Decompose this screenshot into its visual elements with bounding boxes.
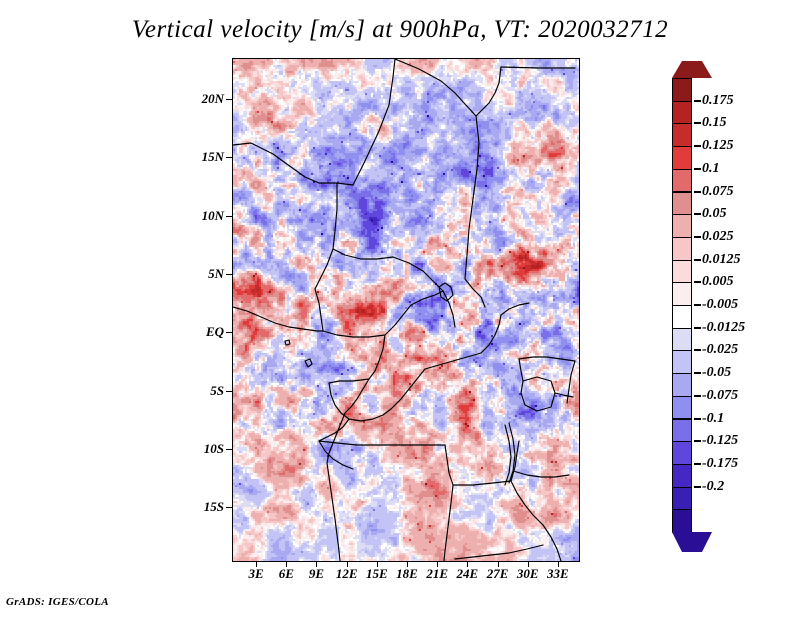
colorbar — [672, 78, 692, 532]
x-axis-tick-label: 21E — [426, 566, 448, 582]
colorbar-swatch — [672, 282, 692, 306]
colorbar-tick-mark — [694, 349, 701, 351]
colorbar-tick-mark — [694, 418, 701, 420]
x-axis-tick-label: 33E — [547, 566, 569, 582]
colorbar-tick-label: -0.075 — [702, 388, 738, 404]
x-axis-tick-mark — [316, 561, 317, 567]
colorbar-tick-label: 0.15 — [702, 115, 727, 131]
colorbar-tick-label: -0.125 — [702, 433, 738, 449]
colorbar-swatch — [672, 441, 692, 465]
colorbar-swatch — [672, 214, 692, 238]
x-axis-tick-label: 3E — [249, 566, 264, 582]
y-axis-tick-label: 5N — [208, 266, 224, 282]
colorbar-tick-mark — [694, 122, 701, 124]
x-axis-tick-mark — [437, 561, 438, 567]
x-axis-tick-label: 12E — [336, 566, 358, 582]
y-axis-tick-mark — [226, 274, 232, 275]
colorbar-swatch — [672, 328, 692, 352]
x-axis-tick-label: 30E — [517, 566, 539, 582]
colorbar-tick-label: -0.0125 — [702, 320, 745, 336]
x-axis-tick-label: 9E — [309, 566, 324, 582]
colorbar-swatch — [672, 260, 692, 284]
colorbar-tick-label: -0.175 — [702, 456, 738, 472]
colorbar-tick-mark — [694, 259, 701, 261]
colorbar-swatch — [672, 78, 692, 102]
colorbar-top-arrow — [672, 61, 712, 78]
colorbar-swatch — [672, 509, 692, 533]
colorbar-swatch — [672, 464, 692, 488]
colorbar-tick-mark — [694, 440, 701, 442]
colorbar-swatch — [672, 101, 692, 125]
colorbar-swatch — [672, 237, 692, 261]
x-axis-tick-mark — [377, 561, 378, 567]
y-axis-tick-label: 10S — [204, 441, 224, 457]
colorbar-bottom-arrow — [672, 532, 712, 552]
x-axis-tick-label: 24E — [457, 566, 479, 582]
colorbar-tick-label: 0.075 — [702, 184, 734, 200]
colorbar-swatch — [672, 396, 692, 420]
colorbar-tick-mark — [694, 395, 701, 397]
colorbar-tick-label: -0.05 — [702, 365, 731, 381]
country-borders-overlay — [233, 59, 579, 561]
colorbar-tick-label: -0.025 — [702, 342, 738, 358]
colorbar-tick-label: 0.025 — [702, 229, 734, 245]
y-axis-tick-label: 15S — [204, 499, 224, 515]
colorbar-tick-mark — [694, 327, 701, 329]
colorbar-tick-label: 0.175 — [702, 93, 734, 109]
y-axis-tick-mark — [226, 332, 232, 333]
y-axis-tick-label: 20N — [202, 91, 224, 107]
y-axis-tick-mark — [226, 449, 232, 450]
colorbar-tick-label: -0.2 — [702, 479, 724, 495]
x-axis-tick-mark — [498, 561, 499, 567]
colorbar-tick-label: 0.05 — [702, 206, 727, 222]
y-axis-tick-mark — [226, 157, 232, 158]
colorbar-swatch — [672, 169, 692, 193]
y-axis-tick-mark — [226, 391, 232, 392]
y-axis-tick-label: 10N — [202, 208, 224, 224]
colorbar-swatch — [672, 419, 692, 443]
colorbar-tick-label: 0.125 — [702, 138, 734, 154]
colorbar-tick-mark — [694, 100, 701, 102]
colorbar-tick-mark — [694, 463, 701, 465]
colorbar-tick-mark — [694, 191, 701, 193]
colorbar-swatch — [672, 487, 692, 511]
x-axis-tick-label: 27E — [487, 566, 509, 582]
colorbar-tick-mark — [694, 372, 701, 374]
colorbar-tick-mark — [694, 304, 701, 306]
y-axis-tick-label: EQ — [206, 324, 224, 340]
x-axis-tick-mark — [407, 561, 408, 567]
x-axis-tick-mark — [528, 561, 529, 567]
colorbar-swatch — [672, 123, 692, 147]
y-axis-tick-mark — [226, 216, 232, 217]
colorbar-tick-mark — [694, 213, 701, 215]
x-axis-tick-mark — [467, 561, 468, 567]
colorbar-tick-label: -0.005 — [702, 297, 738, 313]
colorbar-tick-mark — [694, 236, 701, 238]
map-plot-area — [232, 58, 580, 562]
x-axis-tick-mark — [558, 561, 559, 567]
colorbar-tick-mark — [694, 145, 701, 147]
grads-attribution: GrADS: IGES/COLA — [6, 596, 109, 608]
y-axis-tick-label: 5S — [210, 383, 224, 399]
page-title: Vertical velocity [m/s] at 900hPa, VT: 2… — [0, 16, 800, 44]
colorbar-swatch — [672, 146, 692, 170]
colorbar-tick-label: 0.0125 — [702, 252, 741, 268]
colorbar-tick-label: 0.1 — [702, 161, 720, 177]
colorbar-tick-mark — [694, 281, 701, 283]
y-axis-tick-mark — [226, 99, 232, 100]
colorbar-swatch — [672, 305, 692, 329]
colorbar-swatch — [672, 373, 692, 397]
x-axis-tick-label: 15E — [366, 566, 388, 582]
colorbar-tick-label: 0.005 — [702, 274, 734, 290]
colorbar-tick-label: -0.1 — [702, 411, 724, 427]
x-axis-tick-mark — [286, 561, 287, 567]
y-axis-tick-mark — [226, 507, 232, 508]
x-axis-tick-mark — [347, 561, 348, 567]
colorbar-swatch — [672, 192, 692, 216]
colorbar-tick-mark — [694, 168, 701, 170]
colorbar-swatch — [672, 350, 692, 374]
x-axis-tick-label: 6E — [279, 566, 294, 582]
x-axis-tick-label: 18E — [396, 566, 418, 582]
y-axis-tick-label: 15N — [202, 149, 224, 165]
x-axis-tick-mark — [256, 561, 257, 567]
colorbar-tick-mark — [694, 486, 701, 488]
